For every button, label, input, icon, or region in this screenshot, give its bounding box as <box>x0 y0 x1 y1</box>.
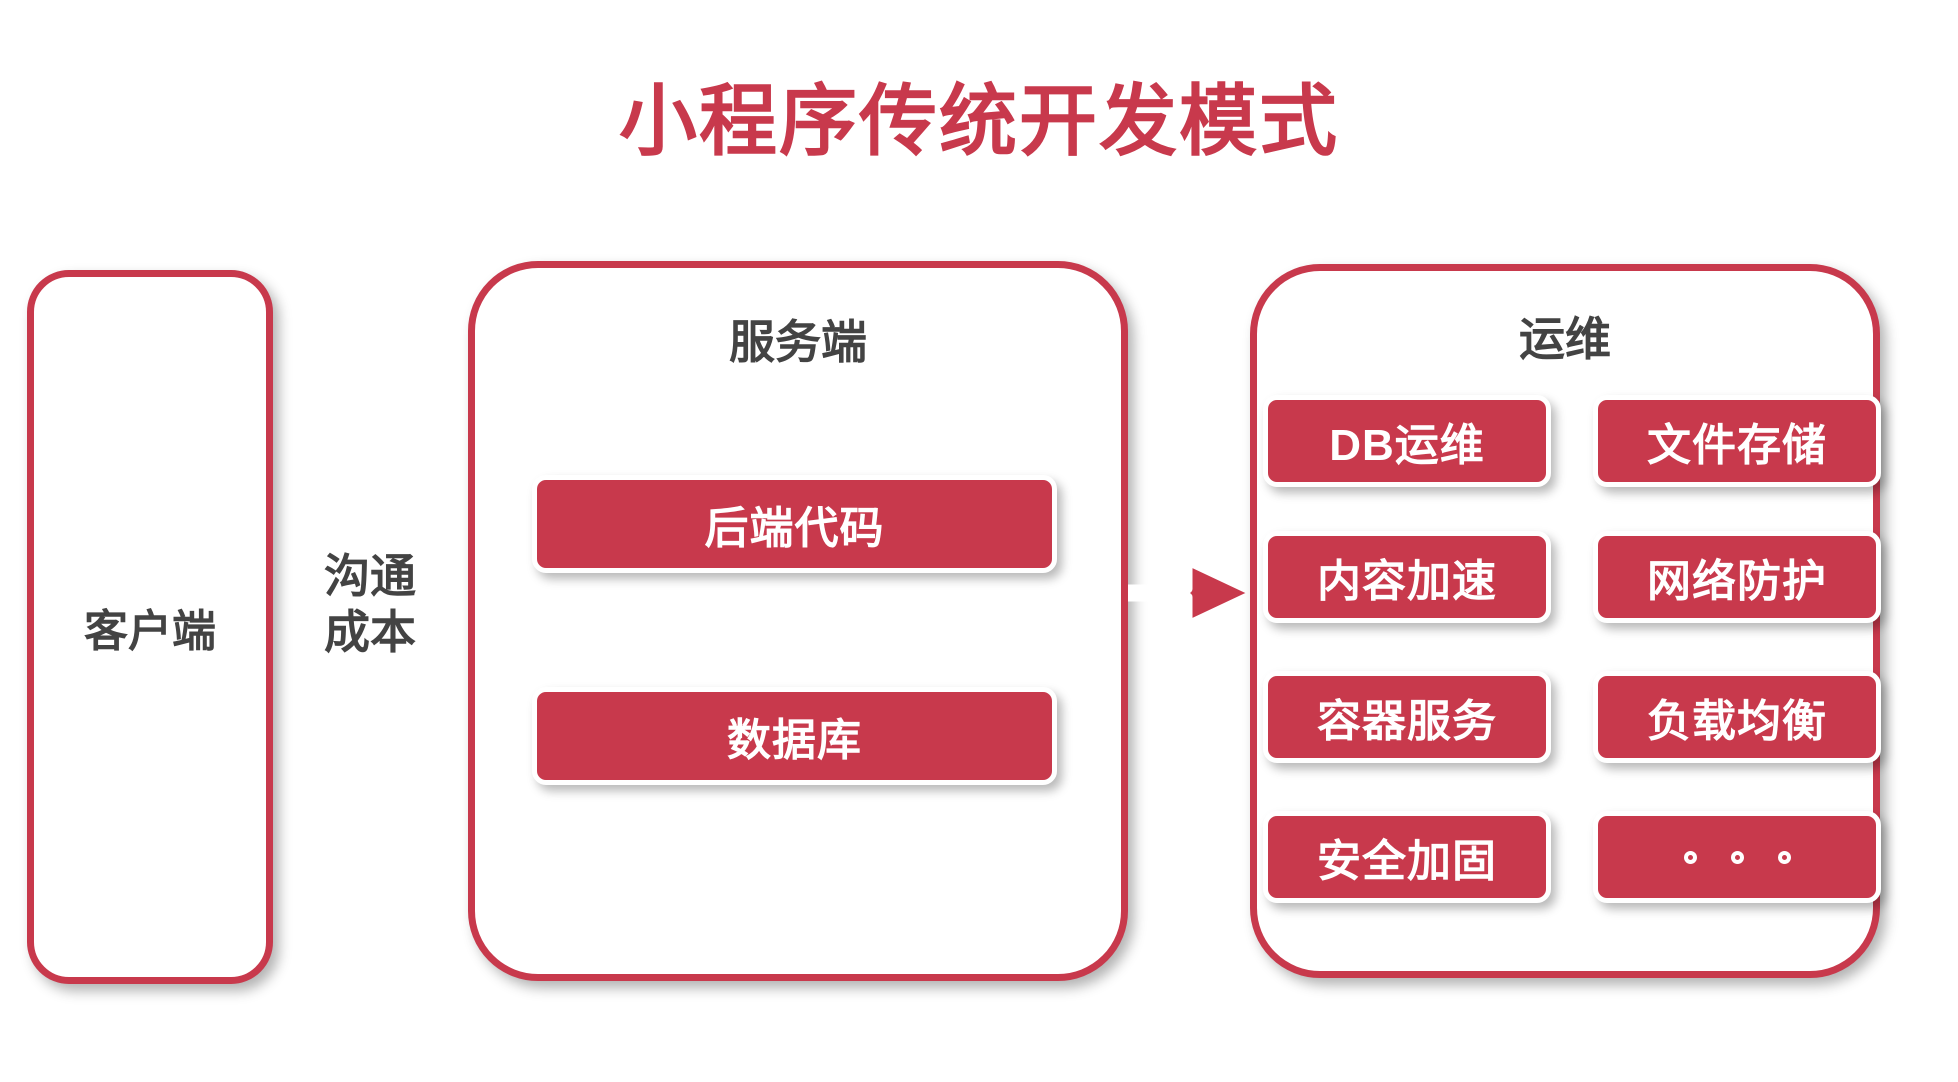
diagram-canvas: 小程序传统开发模式 客户端 沟通 成本 服务端 后端代码 数据库 运维 DB运维 <box>0 0 1958 1082</box>
client-panel: 客户端 <box>27 270 273 984</box>
chip-backend-code-label: 后端代码 <box>705 492 885 556</box>
chip-backend-code[interactable]: 后端代码 <box>532 475 1057 573</box>
chip-db-ops[interactable]: DB运维 <box>1263 395 1551 487</box>
chip-db-ops-label: DB运维 <box>1329 409 1485 473</box>
server-panel: 服务端 后端代码 数据库 <box>468 261 1128 981</box>
ellipsis-dot-2-icon <box>1731 851 1744 864</box>
chip-more-ellipsis[interactable] <box>1593 811 1881 903</box>
flow-arrow-icon <box>1128 556 1264 630</box>
ops-panel-heading: 运维 <box>1257 303 1873 369</box>
chip-network-protection-label: 网络防护 <box>1647 545 1827 609</box>
server-panel-heading: 服务端 <box>475 306 1121 372</box>
client-panel-label: 客户端 <box>34 277 266 977</box>
chip-load-balancing[interactable]: 负载均衡 <box>1593 671 1881 763</box>
chip-container-service[interactable]: 容器服务 <box>1263 671 1551 763</box>
ops-panel: 运维 DB运维 内容加速 容器服务 安全加固 文件存储 网络防护 负载均衡 <box>1250 264 1880 978</box>
chip-network-protection[interactable]: 网络防护 <box>1593 531 1881 623</box>
ellipsis-dot-1-icon <box>1684 851 1697 864</box>
chip-content-acceleration-label: 内容加速 <box>1317 545 1497 609</box>
chip-file-storage-label: 文件存储 <box>1647 409 1827 473</box>
ellipsis-dot-3-icon <box>1778 851 1791 864</box>
chip-load-balancing-label: 负载均衡 <box>1647 685 1827 749</box>
chip-database-label: 数据库 <box>727 704 862 768</box>
page-title: 小程序传统开发模式 <box>0 82 1958 160</box>
chip-content-acceleration[interactable]: 内容加速 <box>1263 531 1551 623</box>
chip-security-hardening[interactable]: 安全加固 <box>1263 811 1551 903</box>
chip-security-hardening-label: 安全加固 <box>1317 825 1497 889</box>
communication-cost-line-1: 沟通 <box>290 548 450 604</box>
chip-file-storage[interactable]: 文件存储 <box>1593 395 1881 487</box>
chip-container-service-label: 容器服务 <box>1317 685 1497 749</box>
communication-cost-line-2: 成本 <box>290 604 450 660</box>
communication-cost-label: 沟通 成本 <box>290 548 450 660</box>
chip-database[interactable]: 数据库 <box>532 687 1057 785</box>
